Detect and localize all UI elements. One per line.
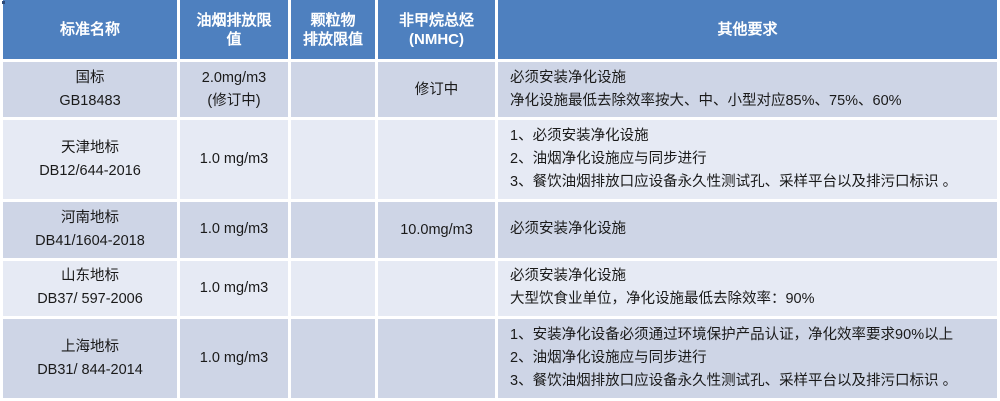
cell-oil-fume-limit: 1.0 mg/m3 bbox=[180, 202, 291, 260]
cell-other-requirements: 1、安装净化设备必须通过环境保护产品认证，净化效率要求90%以上 2、油烟净化设… bbox=[498, 319, 1000, 401]
oil-fume-limit-line1: 1.0 mg/m3 bbox=[188, 148, 280, 171]
other-requirement-line: 净化设施最低去除效率按大、中、小型对应85%、75%、60% bbox=[510, 90, 989, 113]
column-header-standard-name: 标准名称 bbox=[0, 0, 180, 62]
column-header-other-requirements-label: 其他要求 bbox=[502, 20, 993, 39]
column-header-oil-fume-limit-line1: 油烟排放限 bbox=[184, 11, 284, 30]
other-requirement-line: 1、必须安装净化设施 bbox=[510, 125, 989, 148]
standard-name-line1: 河南地标 bbox=[11, 207, 169, 230]
cell-particulate-limit bbox=[291, 202, 378, 260]
table-row: 山东地标 DB37/ 597-2006 1.0 mg/m3 必须安装净化设施 大… bbox=[0, 261, 1000, 319]
other-requirement-line: 2、油烟净化设施应与同步进行 bbox=[510, 347, 989, 370]
cell-nmhc bbox=[378, 261, 498, 319]
standard-name-line2: DB31/ 844-2014 bbox=[11, 359, 169, 382]
standard-name-line2: DB41/1604-2018 bbox=[11, 230, 169, 253]
cell-other-requirements: 1、必须安装净化设施 2、油烟净化设施应与同步进行 3、餐饮油烟排放口应设备永久… bbox=[498, 120, 1000, 202]
cell-oil-fume-limit: 2.0mg/m3 (修订中) bbox=[180, 62, 291, 120]
other-requirement-line: 必须安装净化设施 bbox=[510, 218, 989, 241]
cell-other-requirements: 必须安装净化设施 bbox=[498, 202, 1000, 260]
standard-name-line2: DB37/ 597-2006 bbox=[11, 288, 169, 311]
oil-fume-limit-line1: 1.0 mg/m3 bbox=[188, 277, 280, 300]
other-requirement-line: 大型饮食业单位，净化设施最低去除效率：90% bbox=[510, 288, 989, 311]
table-header: 标准名称 油烟排放限 值 颗粒物 排放限值 非甲烷总烃 (NMHC) 其他要求 bbox=[0, 0, 1000, 62]
cell-nmhc: 修订中 bbox=[378, 62, 498, 120]
standard-name-line1: 天津地标 bbox=[11, 137, 169, 160]
other-requirement-line: 3、餐饮油烟排放口应设备永久性测试孔、采样平台以及排污口标识 。 bbox=[510, 370, 989, 393]
column-header-particulate-limit-line2: 排放限值 bbox=[295, 30, 371, 49]
cell-particulate-limit bbox=[291, 261, 378, 319]
cell-oil-fume-limit: 1.0 mg/m3 bbox=[180, 261, 291, 319]
column-header-oil-fume-limit: 油烟排放限 值 bbox=[180, 0, 291, 62]
emission-standards-table: 标准名称 油烟排放限 值 颗粒物 排放限值 非甲烷总烃 (NMHC) 其他要求 … bbox=[0, 0, 1000, 401]
other-requirement-line: 2、油烟净化设施应与同步进行 bbox=[510, 148, 989, 171]
cell-oil-fume-limit: 1.0 mg/m3 bbox=[180, 319, 291, 401]
cell-oil-fume-limit: 1.0 mg/m3 bbox=[180, 120, 291, 202]
other-requirement-line: 3、餐饮油烟排放口应设备永久性测试孔、采样平台以及排污口标识 。 bbox=[510, 171, 989, 194]
column-header-oil-fume-limit-line2: 值 bbox=[184, 30, 284, 49]
oil-fume-limit-line1: 1.0 mg/m3 bbox=[188, 218, 280, 241]
table-body: 国标 GB18483 2.0mg/m3 (修订中) 修订中 必须安装净化设施 净… bbox=[0, 62, 1000, 401]
oil-fume-limit-line1: 2.0mg/m3 bbox=[188, 67, 280, 90]
cell-other-requirements: 必须安装净化设施 净化设施最低去除效率按大、中、小型对应85%、75%、60% bbox=[498, 62, 1000, 120]
table-row: 天津地标 DB12/644-2016 1.0 mg/m3 1、必须安装净化设施 … bbox=[0, 120, 1000, 202]
corner-artifact-dot bbox=[2, 1, 5, 4]
cell-nmhc: 10.0mg/m3 bbox=[378, 202, 498, 260]
oil-fume-limit-line1: 1.0 mg/m3 bbox=[188, 347, 280, 370]
column-header-nmhc-line1: 非甲烷总烃 bbox=[382, 11, 491, 30]
column-header-particulate-limit-line1: 颗粒物 bbox=[295, 11, 371, 30]
column-header-other-requirements: 其他要求 bbox=[498, 0, 1000, 62]
table-row: 上海地标 DB31/ 844-2014 1.0 mg/m3 1、安装净化设备必须… bbox=[0, 319, 1000, 401]
cell-particulate-limit bbox=[291, 319, 378, 401]
other-requirement-line: 必须安装净化设施 bbox=[510, 265, 989, 288]
column-header-particulate-limit: 颗粒物 排放限值 bbox=[291, 0, 378, 62]
column-header-nmhc: 非甲烷总烃 (NMHC) bbox=[378, 0, 498, 62]
cell-standard-name: 河南地标 DB41/1604-2018 bbox=[0, 202, 180, 260]
cell-standard-name: 天津地标 DB12/644-2016 bbox=[0, 120, 180, 202]
cell-other-requirements: 必须安装净化设施 大型饮食业单位，净化设施最低去除效率：90% bbox=[498, 261, 1000, 319]
column-header-nmhc-line2: (NMHC) bbox=[382, 30, 491, 49]
cell-standard-name: 上海地标 DB31/ 844-2014 bbox=[0, 319, 180, 401]
standard-name-line1: 上海地标 bbox=[11, 336, 169, 359]
other-requirement-line: 必须安装净化设施 bbox=[510, 67, 989, 90]
standard-name-line1: 国标 bbox=[11, 67, 169, 90]
column-header-standard-name-label: 标准名称 bbox=[7, 20, 173, 39]
cell-particulate-limit bbox=[291, 120, 378, 202]
standard-name-line2: DB12/644-2016 bbox=[11, 160, 169, 183]
table-row: 国标 GB18483 2.0mg/m3 (修订中) 修订中 必须安装净化设施 净… bbox=[0, 62, 1000, 120]
cell-particulate-limit bbox=[291, 62, 378, 120]
cell-nmhc bbox=[378, 120, 498, 202]
cell-standard-name: 国标 GB18483 bbox=[0, 62, 180, 120]
cell-standard-name: 山东地标 DB37/ 597-2006 bbox=[0, 261, 180, 319]
standard-name-line1: 山东地标 bbox=[11, 265, 169, 288]
other-requirement-line: 1、安装净化设备必须通过环境保护产品认证，净化效率要求90%以上 bbox=[510, 324, 989, 347]
cell-nmhc bbox=[378, 319, 498, 401]
standard-name-line2: GB18483 bbox=[11, 90, 169, 113]
oil-fume-limit-line2: (修订中) bbox=[188, 90, 280, 113]
table-row: 河南地标 DB41/1604-2018 1.0 mg/m3 10.0mg/m3 … bbox=[0, 202, 1000, 260]
header-row: 标准名称 油烟排放限 值 颗粒物 排放限值 非甲烷总烃 (NMHC) 其他要求 bbox=[0, 0, 1000, 62]
